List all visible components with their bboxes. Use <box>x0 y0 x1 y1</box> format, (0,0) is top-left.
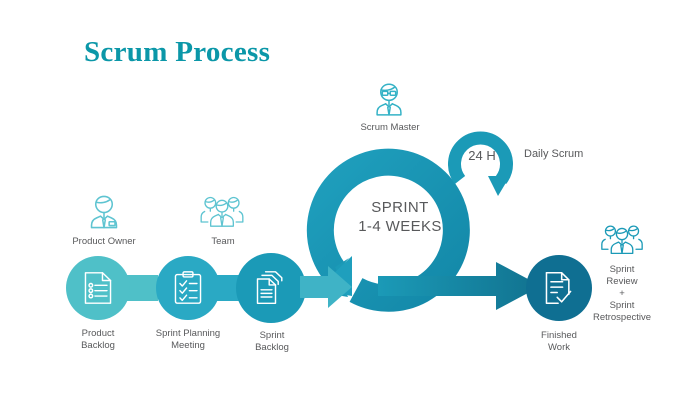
stage-sprint-backlog[interactable] <box>236 253 306 323</box>
scrum-master-label: Scrum Master <box>340 122 440 134</box>
exit-arrow <box>378 258 543 314</box>
stage-label-sprint-backlog: Sprint Backlog <box>226 330 318 353</box>
stage-sprint-planning-meeting[interactable] <box>156 256 220 320</box>
stage-label-sprint-planning-meeting: Sprint Planning Meeting <box>138 328 238 351</box>
list-document-icon <box>82 271 114 305</box>
stacked-documents-icon <box>254 270 288 306</box>
product-owner-label: Product Owner <box>52 236 156 248</box>
sprint-duration-text: SPRINT 1-4 WEEKS <box>330 198 470 236</box>
stage-label-finished-work: Finished Work <box>512 330 606 353</box>
stage-label-product-backlog: Product Backlog <box>50 328 146 351</box>
stage-finished-work[interactable] <box>526 255 592 321</box>
team-icon <box>200 192 244 237</box>
entry-arrow <box>300 266 352 312</box>
team-label: Team <box>178 236 268 248</box>
scrum-master-icon <box>368 78 410 127</box>
product-owner-icon <box>82 190 126 239</box>
daily-scrum-label: Daily Scrum <box>524 148 583 160</box>
scrum-process-diagram: Scrum Process Product Owner <box>0 0 700 400</box>
daily-scrum-duration: 24 H <box>452 148 512 163</box>
sprint-review-group-icon <box>600 222 644 265</box>
page-title: Scrum Process <box>84 36 270 69</box>
stage-product-backlog[interactable] <box>66 256 130 320</box>
sprint-review-label: Sprint Review + Sprint Retrospective <box>586 264 658 324</box>
clipboard-checklist-icon <box>172 271 204 305</box>
document-check-icon <box>543 271 575 305</box>
